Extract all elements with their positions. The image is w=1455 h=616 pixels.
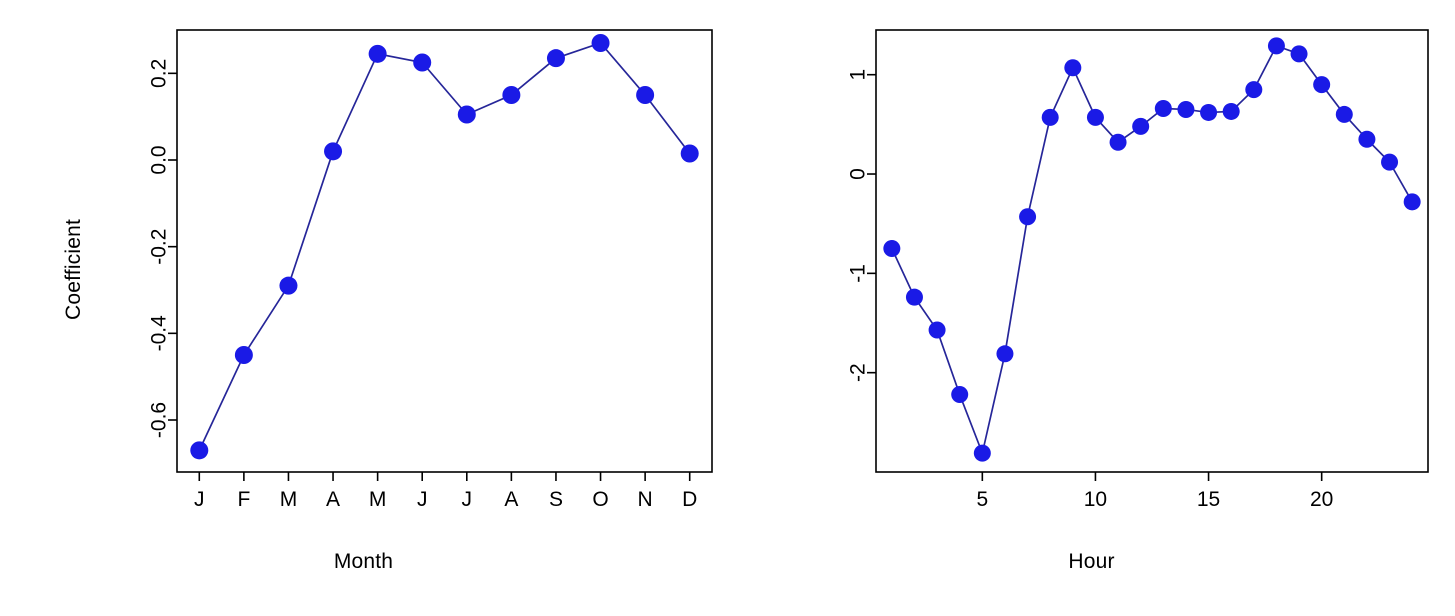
x-tick-label: J (462, 488, 473, 511)
data-point-marker (1110, 134, 1127, 151)
data-point-marker (502, 86, 520, 104)
data-point-marker (636, 86, 654, 104)
data-point-marker (279, 277, 297, 295)
data-point-marker (1268, 37, 1285, 54)
data-point-marker (906, 289, 923, 306)
y-tick-label: -0.2 (148, 229, 171, 265)
data-point-marker (1358, 131, 1375, 148)
data-point-marker (1087, 109, 1104, 126)
month-panel: 0.20.0-0.2-0.4-0.6JFMAMJJASOND Month Coe… (0, 0, 727, 616)
data-point-marker (1200, 104, 1217, 121)
data-point-marker (324, 142, 342, 160)
data-point-marker (1336, 106, 1353, 123)
data-point-marker (1177, 101, 1194, 118)
data-point-marker (1155, 100, 1172, 117)
data-point-marker (1404, 193, 1421, 210)
y-tick-label: 0.2 (148, 59, 171, 88)
data-point-marker (681, 145, 699, 163)
data-point-marker (1381, 154, 1398, 171)
two-panel-coefficient-figure: 0.20.0-0.2-0.4-0.6JFMAMJJASOND Month Coe… (0, 0, 1455, 616)
x-tick-label: F (237, 488, 250, 511)
data-point-marker (929, 321, 946, 338)
data-point-marker (458, 106, 476, 124)
data-point-marker (369, 45, 387, 63)
data-point-marker (996, 345, 1013, 362)
y-tick-label: 1 (847, 69, 870, 81)
x-tick-label: A (326, 488, 340, 511)
x-tick-label: N (638, 488, 653, 511)
x-tick-label: 15 (1197, 488, 1220, 511)
x-tick-label: 10 (1084, 488, 1107, 511)
data-point-marker (1064, 59, 1081, 76)
data-point-marker (190, 441, 208, 459)
data-point-marker (1291, 45, 1308, 62)
data-point-marker (883, 240, 900, 257)
data-point-marker (413, 54, 431, 72)
data-point-marker (547, 49, 565, 67)
y-tick-label: -0.6 (148, 402, 171, 438)
hour-panel: 10-1-25101520 Hour Coefficient (728, 0, 1455, 616)
data-point-marker (235, 346, 253, 364)
data-point-marker (592, 34, 610, 52)
y-axis-title-month: Coefficient (62, 219, 86, 320)
y-tick-label: -0.4 (148, 315, 171, 352)
x-tick-label: D (682, 488, 697, 511)
x-tick-label: A (504, 488, 518, 511)
plot-border (876, 30, 1428, 472)
data-point-marker (1042, 109, 1059, 126)
series-line (199, 43, 689, 450)
x-tick-label: J (194, 488, 205, 511)
data-point-marker (1132, 118, 1149, 135)
y-tick-label: -1 (847, 264, 870, 283)
plot-border (177, 30, 712, 472)
x-tick-label: M (280, 488, 298, 511)
x-axis-title-month: Month (0, 550, 727, 574)
data-point-marker (1223, 103, 1240, 120)
x-tick-label: O (592, 488, 608, 511)
y-tick-label: -2 (847, 363, 870, 382)
month-plot-area: 0.20.0-0.2-0.4-0.6JFMAMJJASOND (0, 0, 727, 616)
data-point-marker (1019, 208, 1036, 225)
y-tick-label: 0.0 (148, 145, 171, 174)
x-tick-label: 5 (976, 488, 988, 511)
x-tick-label: 20 (1310, 488, 1333, 511)
hour-plot-area: 10-1-25101520 (728, 0, 1455, 616)
x-axis-title-hour: Hour (728, 550, 1455, 574)
x-tick-label: S (549, 488, 563, 511)
x-tick-label: M (369, 488, 387, 511)
y-tick-label: 0 (847, 168, 870, 180)
x-tick-label: J (417, 488, 428, 511)
data-point-marker (974, 445, 991, 462)
data-point-marker (951, 386, 968, 403)
data-point-marker (1245, 81, 1262, 98)
series-line (892, 46, 1412, 453)
data-point-marker (1313, 76, 1330, 93)
